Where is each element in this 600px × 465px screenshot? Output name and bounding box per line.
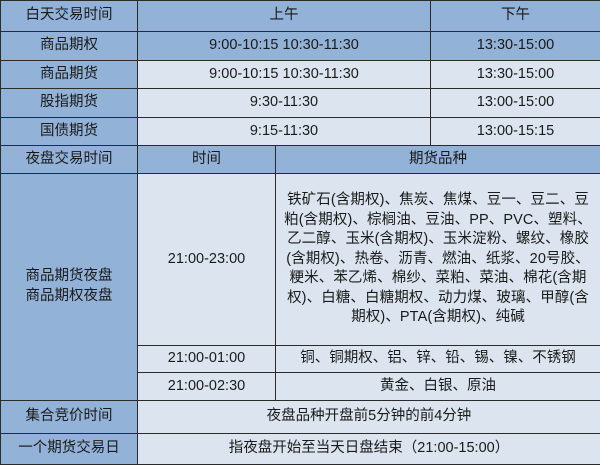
row-label: 商品期权 <box>1 32 138 61</box>
row-label: 商品期货 <box>1 61 138 89</box>
afternoon-time: 13:00-15:15 <box>431 118 600 146</box>
night-time: 21:00-02:30 <box>138 373 276 401</box>
night-time: 21:00-01:00 <box>138 346 276 373</box>
morning-time: 9:30-11:30 <box>138 89 431 118</box>
night-row-label: 商品期货夜盘 商品期权夜盘 <box>1 174 138 401</box>
night-header-row: 夜盘交易时间 时间 期货品种 <box>1 146 600 174</box>
night-time-header: 时间 <box>138 146 276 174</box>
row-label: 股指期货 <box>1 89 138 118</box>
table-row-treasury-futures: 国债期货 9:15-11:30 13:00-15:15 <box>1 118 600 146</box>
night-products: 黄金、白银、原油 <box>276 373 600 401</box>
night-label-line2: 商品期权夜盘 <box>5 287 133 307</box>
morning-header: 上午 <box>138 1 431 32</box>
night-section-label: 夜盘交易时间 <box>1 146 138 174</box>
table-row-call-auction: 集合竞价时间 夜盘品种开盘前5分钟的前4分钟 <box>1 401 600 434</box>
table-row-index-futures: 股指期货 9:30-11:30 13:00-15:00 <box>1 89 600 118</box>
night-products-header: 期货品种 <box>276 146 600 174</box>
table-row-trading-day: 一个期货交易日 指夜盘开始至当天日盘结束（21:00-15:00） <box>1 434 600 465</box>
trading-hours-table: 白天交易时间 上午 下午 商品期权 9:00-10:15 10:30-11:30… <box>0 0 600 465</box>
night-time: 21:00-23:00 <box>138 174 276 346</box>
footer-label: 一个期货交易日 <box>1 434 138 465</box>
afternoon-time: 13:00-15:00 <box>431 89 600 118</box>
afternoon-time: 13:30-15:00 <box>431 32 600 61</box>
day-header-row: 白天交易时间 上午 下午 <box>1 1 600 32</box>
footer-label: 集合竞价时间 <box>1 401 138 434</box>
table-row-night-2300: 商品期货夜盘 商品期权夜盘 21:00-23:00 铁矿石(含期权)、焦炭、焦煤… <box>1 174 600 346</box>
footer-value: 指夜盘开始至当天日盘结束（21:00-15:00） <box>138 434 600 465</box>
footer-value: 夜盘品种开盘前5分钟的前4分钟 <box>138 401 600 434</box>
row-label: 国债期货 <box>1 118 138 146</box>
table-row-commodity-futures: 商品期货 9:00-10:15 10:30-11:30 13:30-15:00 <box>1 61 600 89</box>
afternoon-header: 下午 <box>431 1 600 32</box>
morning-time: 9:00-10:15 10:30-11:30 <box>138 32 431 61</box>
night-products: 铜、铜期权、铝、锌、铅、锡、镍、不锈钢 <box>276 346 600 373</box>
night-label-line1: 商品期货夜盘 <box>5 267 133 287</box>
morning-time: 9:00-10:15 10:30-11:30 <box>138 61 431 89</box>
night-products: 铁矿石(含期权)、焦炭、焦煤、豆一、豆二、豆粕(含期权)、棕榈油、豆油、PP、P… <box>276 174 600 346</box>
morning-time: 9:15-11:30 <box>138 118 431 146</box>
afternoon-time: 13:30-15:00 <box>431 61 600 89</box>
day-section-label: 白天交易时间 <box>1 1 138 32</box>
table-row-commodity-options: 商品期权 9:00-10:15 10:30-11:30 13:30-15:00 <box>1 32 600 61</box>
